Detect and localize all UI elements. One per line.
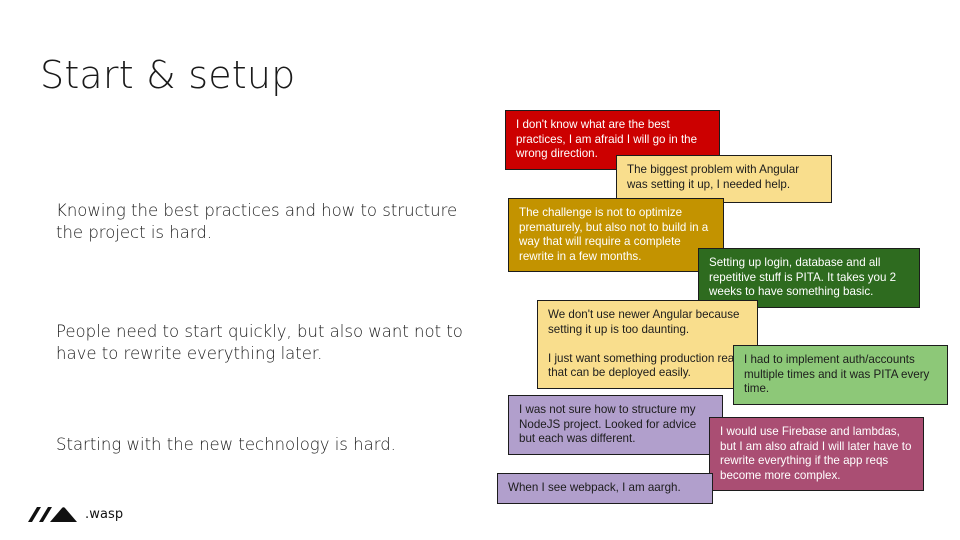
slide-canvas: Start & setup Knowing the best practices…: [0, 0, 960, 540]
note-webpack-aargh: When I see webpack, I am aargh.: [497, 473, 713, 504]
note-firebase-lambdas: I would use Firebase and lambdas, but I …: [709, 417, 924, 491]
note-newer-angular-daunting: We don't use newer Angular because setti…: [537, 300, 758, 389]
wasp-mountain-logo-icon: [26, 504, 78, 524]
footer-wordmark: .wasp: [85, 507, 123, 522]
quote-note-group: I don't know what are the best practices…: [0, 0, 960, 540]
note-login-database-pita: Setting up login, database and all repet…: [698, 248, 920, 308]
note-angular-setup: The biggest problem with Angular was set…: [616, 155, 832, 203]
footer-logo: .wasp: [26, 504, 123, 524]
note-nodejs-structure: I was not sure how to structure my NodeJ…: [508, 395, 723, 455]
note-premature-optimize: The challenge is not to optimize prematu…: [508, 198, 724, 272]
note-auth-accounts-pita: I had to implement auth/accounts multipl…: [733, 345, 948, 405]
